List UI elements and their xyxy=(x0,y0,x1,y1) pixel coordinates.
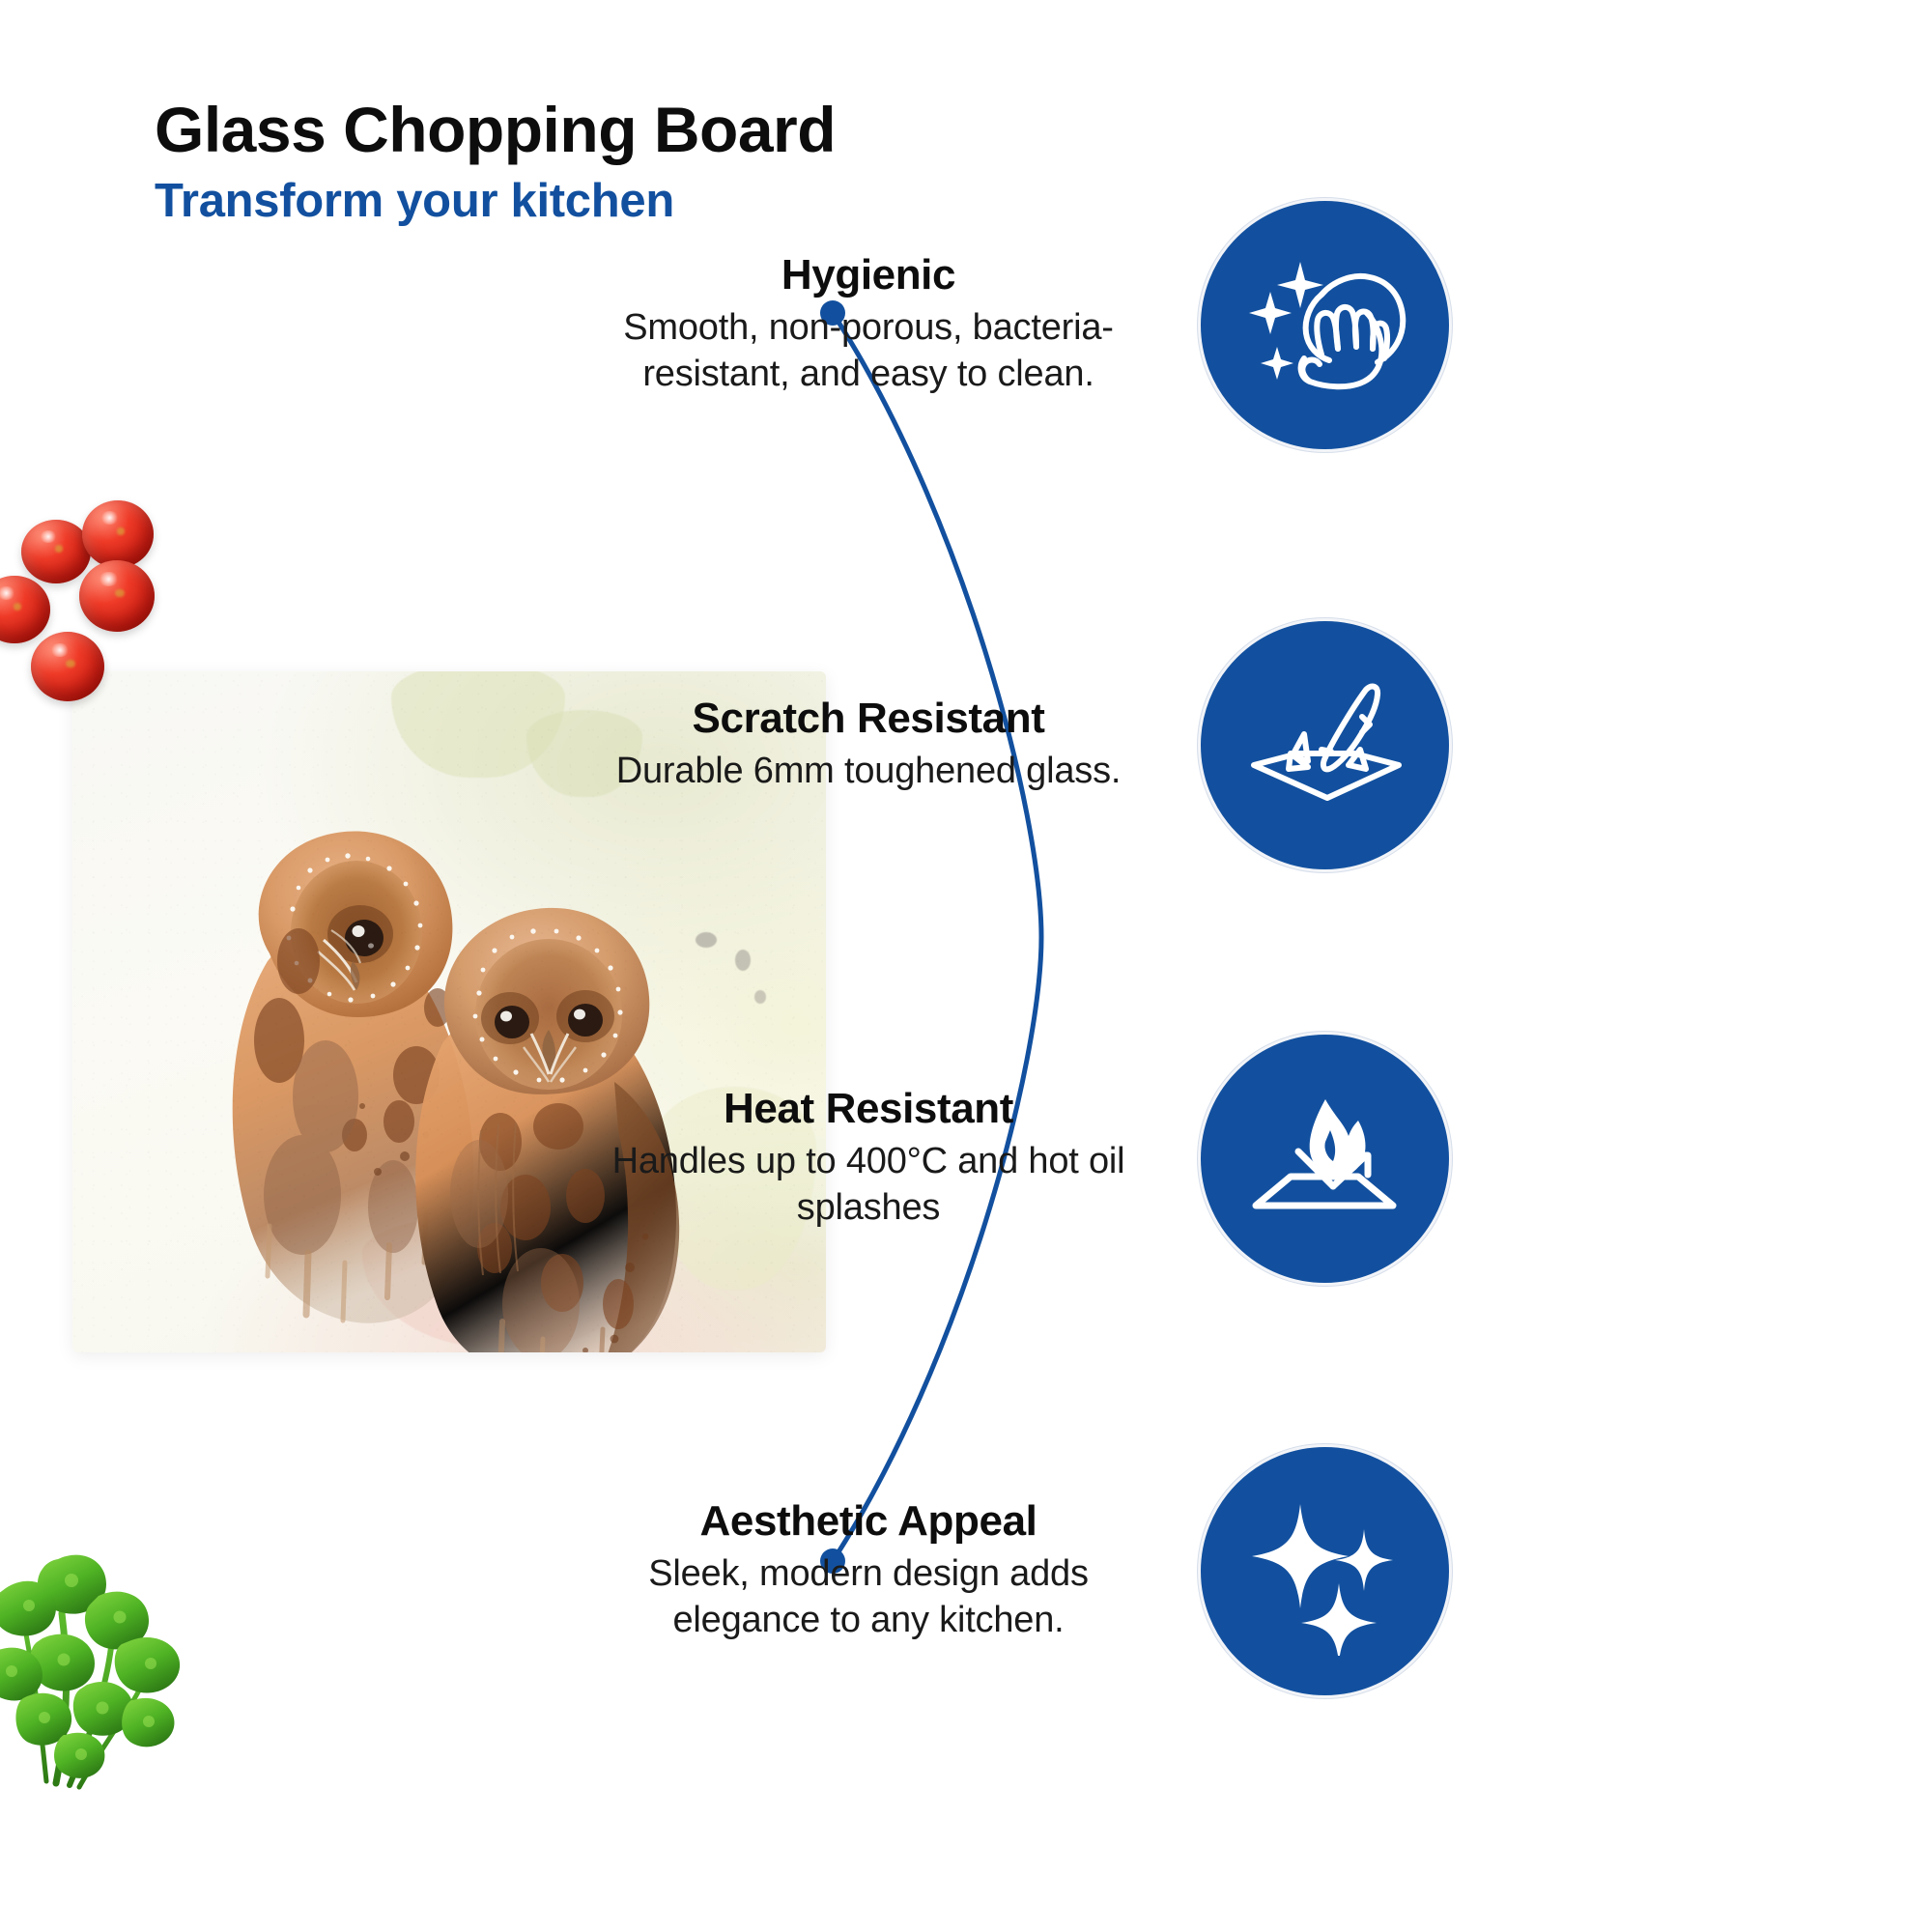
feature-title: Scratch Resistant xyxy=(580,696,1157,742)
cherry-tomato xyxy=(31,632,104,701)
feature-scratch-resistant: Scratch Resistant Durable 6mm toughened … xyxy=(580,618,1546,872)
feature-text-block: Hygienic Smooth, non-porous, bacteria-re… xyxy=(580,252,1198,398)
feature-text-block: Scratch Resistant Durable 6mm toughened … xyxy=(580,696,1198,795)
feature-title: Heat Resistant xyxy=(580,1086,1157,1132)
page-title: Glass Chopping Board xyxy=(155,97,836,163)
feature-aesthetic-appeal: Aesthetic Appeal Sleek, modern design ad… xyxy=(580,1444,1546,1698)
feature-text-block: Heat Resistant Handles up to 400°C and h… xyxy=(580,1086,1198,1232)
parsley-sprig xyxy=(0,1546,209,1792)
feature-title: Aesthetic Appeal xyxy=(580,1498,1157,1545)
feature-text-block: Aesthetic Appeal Sleek, modern design ad… xyxy=(580,1498,1198,1644)
cherry-tomato xyxy=(79,560,155,632)
owl-artwork-left xyxy=(210,816,519,1328)
wipe-clean-sparkle-icon xyxy=(1240,241,1409,410)
feature-description: Handles up to 400°C and hot oil splashes xyxy=(580,1139,1157,1232)
sparkles-icon xyxy=(1240,1487,1409,1656)
feature-title: Hygienic xyxy=(580,252,1157,298)
feature-description: Durable 6mm toughened glass. xyxy=(580,749,1157,795)
feature-icon-badge-aesthetic[interactable] xyxy=(1198,1444,1452,1698)
connector-curve xyxy=(792,270,1101,1604)
feature-icon-badge-heat[interactable] xyxy=(1198,1032,1452,1286)
feature-icon-badge-hygienic[interactable] xyxy=(1198,198,1452,452)
knife-scratch-surface-icon xyxy=(1240,661,1409,830)
feature-description: Smooth, non-porous, bacteria-resistant, … xyxy=(580,305,1157,398)
cherry-tomato xyxy=(0,576,50,643)
feature-hygienic: Hygienic Smooth, non-porous, bacteria-re… xyxy=(580,198,1546,452)
feature-heat-resistant: Heat Resistant Handles up to 400°C and h… xyxy=(580,1032,1546,1286)
feature-description: Sleek, modern design adds elegance to an… xyxy=(580,1551,1157,1644)
feature-icon-badge-scratch[interactable] xyxy=(1198,618,1452,872)
cherry-tomato xyxy=(82,500,154,568)
cherry-tomato xyxy=(21,520,91,583)
flame-deflect-surface-icon xyxy=(1240,1074,1409,1243)
